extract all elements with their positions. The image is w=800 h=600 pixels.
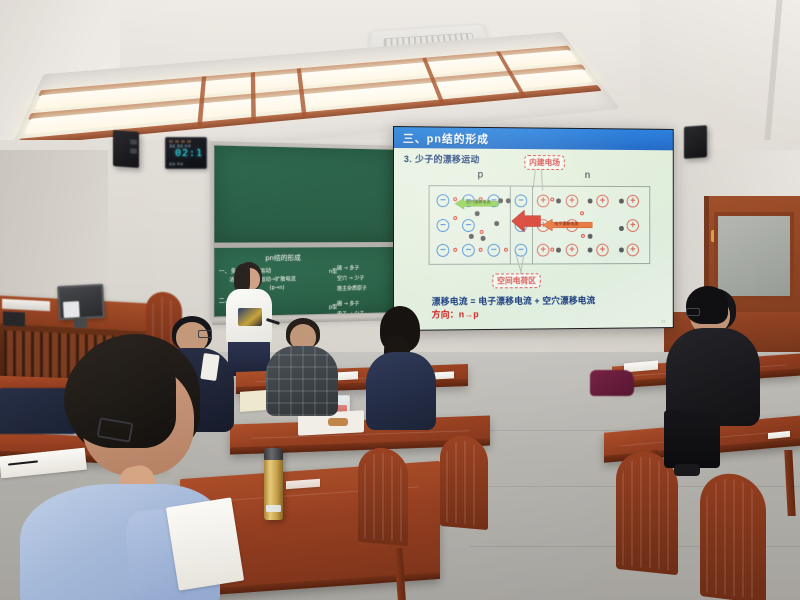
electron-carrier xyxy=(475,211,479,215)
panel-button[interactable] xyxy=(169,140,173,143)
glasses-icon xyxy=(686,308,700,316)
panel-button[interactable] xyxy=(187,140,191,143)
donor-ion: + xyxy=(627,219,639,232)
student-black-tshirt xyxy=(660,288,780,488)
electron-carrier xyxy=(506,198,510,202)
chalk-line: 空穴 → 少子 xyxy=(337,274,364,281)
hole-carrier xyxy=(480,230,484,234)
space-charge-region-callout: 空间电荷区 xyxy=(492,273,540,288)
chair-slats xyxy=(446,439,482,525)
thermos-cap xyxy=(264,448,283,460)
panel-digits: 02:1 xyxy=(175,148,203,159)
donor-ion: + xyxy=(537,244,550,257)
chalk-line: 施主杂质原子 xyxy=(337,285,367,293)
panel-buttons[interactable] xyxy=(169,140,191,143)
student-plaid-jacket xyxy=(266,346,338,416)
donor-ion: + xyxy=(627,244,639,257)
donor-ion: + xyxy=(566,195,578,208)
speaker-slit xyxy=(130,148,137,153)
monitor-stand xyxy=(74,318,88,329)
chair[interactable] xyxy=(440,434,488,530)
hole-carrier xyxy=(550,248,554,252)
chalk-title: pn结的形成 xyxy=(265,252,300,263)
slide-subtitle: 3. 少子的漂移运动 xyxy=(404,152,480,165)
hole-carrier xyxy=(581,234,585,238)
monitor-screen-highlight xyxy=(63,301,80,318)
electron-carrier xyxy=(481,236,485,240)
electron-carrier xyxy=(469,234,473,238)
speaker-slit xyxy=(130,139,137,144)
acceptor-ion: − xyxy=(462,244,475,257)
electron-carrier xyxy=(619,248,623,252)
electron-carrier xyxy=(494,221,498,225)
panel-button[interactable] xyxy=(181,140,185,143)
student-foreground xyxy=(20,334,264,600)
electron-drift-current-label: 电子漂移电流 xyxy=(554,221,578,227)
panel-bottom-label: 自动 手动 xyxy=(169,162,203,166)
hole-carrier xyxy=(580,211,584,215)
acceptor-ion: − xyxy=(437,219,450,232)
electron-drift-current-arrow: 电子漂移电流 xyxy=(543,218,593,230)
electron-carrier xyxy=(556,199,560,203)
hole-carrier xyxy=(453,216,457,220)
donor-ion: + xyxy=(627,195,639,208)
wall-speaker-right-icon xyxy=(684,125,707,159)
snack-food xyxy=(328,418,348,426)
donor-ion: + xyxy=(596,195,608,208)
electron-carrier xyxy=(588,199,592,203)
student-longhair xyxy=(364,306,438,430)
gold-thermos xyxy=(264,448,283,520)
door-glass-pane xyxy=(714,212,794,300)
wall-control-panel[interactable]: 温度 湿度 时间 02:1 自动 手动 xyxy=(165,137,207,169)
hole-carrier xyxy=(453,248,457,252)
red-block-arrow-icon xyxy=(512,210,541,232)
slide-title: 三、pn结的形成 xyxy=(403,130,489,147)
drift-current-equation: 漂移电流 = 电子漂移电流 + 空穴漂移电流 xyxy=(432,294,596,308)
hole-carrier xyxy=(504,248,508,252)
chalk-line: 硼 → 多子 xyxy=(337,300,359,308)
donor-ion: + xyxy=(596,244,608,257)
student-trousers xyxy=(664,410,720,468)
classroom-photo-scene: 温度 湿度 时间 02:1 自动 手动 pn结的形成 一、多子的扩散运动 浓度差… xyxy=(0,0,800,600)
chair-slats xyxy=(706,476,760,600)
electron-carrier xyxy=(619,226,623,230)
chalk-line: p型 xyxy=(329,303,337,310)
donor-ion: + xyxy=(566,244,578,257)
acceptor-ion: − xyxy=(437,244,450,257)
chair[interactable] xyxy=(700,470,766,600)
electron-carrier xyxy=(588,234,592,238)
chair[interactable] xyxy=(358,446,408,546)
student-shoe xyxy=(674,464,700,476)
presentation-slide: 三、pn结的形成 3. 少子的漂移运动 p n − − − − − − − − … xyxy=(394,127,673,330)
hole-carrier xyxy=(479,248,483,252)
electron-carrier xyxy=(588,248,592,252)
built-in-field-arrow xyxy=(512,210,541,232)
handout-paper xyxy=(166,497,244,590)
thermos-label xyxy=(266,505,281,512)
electron-carrier xyxy=(556,248,560,252)
wall-speaker-left-icon xyxy=(113,130,139,168)
region-label-p: p xyxy=(478,170,483,181)
projection-screen: 三、pn结的形成 3. 少子的漂移运动 p n − − − − − − − − … xyxy=(393,126,674,331)
region-label-n: n xyxy=(585,170,590,181)
acceptor-ion: − xyxy=(487,244,500,257)
donor-ion: + xyxy=(537,195,550,208)
chair-slats xyxy=(364,451,402,541)
hole-drift-current-arrow: 空穴漂移电流 xyxy=(455,196,498,207)
chalk-line: 磷 → 多子 xyxy=(337,264,359,271)
handbag xyxy=(590,370,634,396)
callout-leader-line xyxy=(541,169,543,191)
built-in-field-callout: 内建电场 xyxy=(524,155,564,170)
drift-direction-text: 方向：n→p xyxy=(432,307,479,320)
student-hair-top xyxy=(686,286,728,324)
acceptor-ion: − xyxy=(462,219,475,232)
student-blazer xyxy=(366,352,436,430)
electron-carrier xyxy=(498,198,502,202)
podium-monitor xyxy=(57,284,105,320)
acceptor-ion: − xyxy=(437,194,450,207)
hole-drift-current-label: 空穴漂移电流 xyxy=(466,199,491,205)
acceptor-ion: − xyxy=(515,194,528,207)
shirt-graphic-print xyxy=(238,308,262,326)
podium-equipment-box xyxy=(3,311,25,326)
chalk-line: n型 xyxy=(329,268,337,275)
electron-carrier xyxy=(619,199,623,203)
blackboard-upper-panel xyxy=(214,145,398,242)
panel-button[interactable] xyxy=(175,140,179,143)
hole-carrier xyxy=(550,198,554,202)
student-plaid xyxy=(266,318,338,418)
panel-bottom-readout: 自动 手动 xyxy=(169,162,203,166)
